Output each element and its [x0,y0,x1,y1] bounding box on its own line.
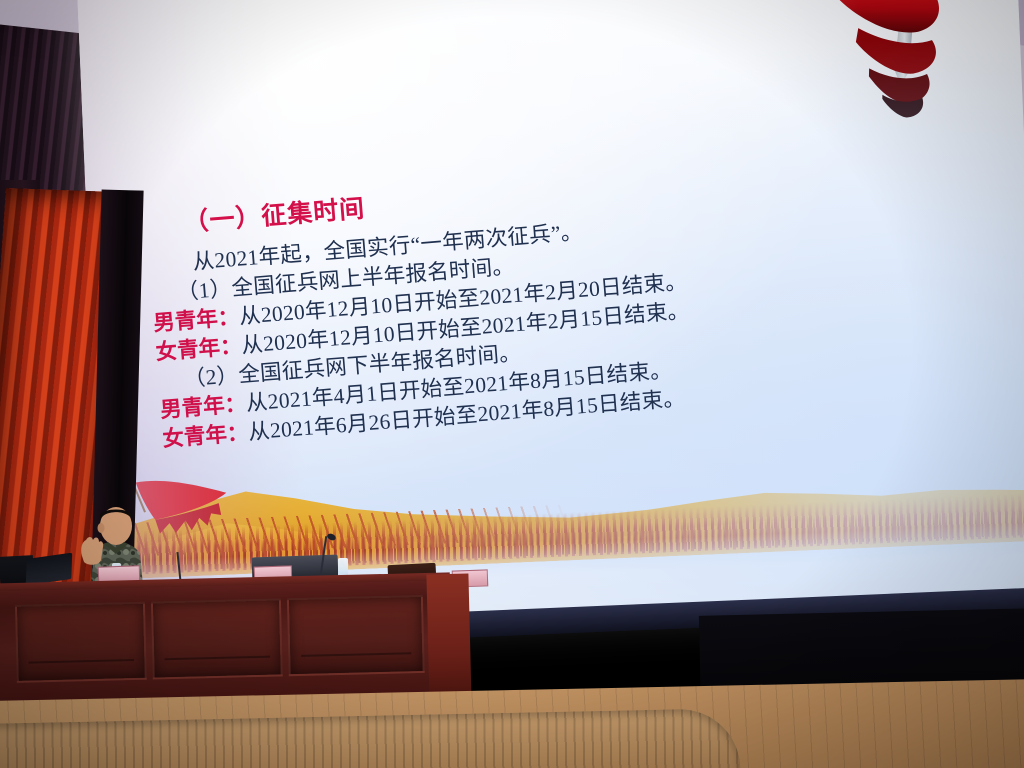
slide-line-label: 男青年： [159,392,247,423]
head-table-side [426,574,471,705]
head-table [0,580,443,709]
slide-line-label: 男青年： [153,305,241,336]
slide-line-label: 女青年： [162,421,250,452]
table-panel [151,598,283,679]
table-panel-ornament [28,623,135,664]
table-panel [287,595,425,676]
projection-screen: （一）征集时间 从2021年起，全国实行“一年两次征兵”。 （1）全国征兵网上半… [77,0,1024,632]
slide-line-label: 女青年： [155,334,243,365]
table-panel-ornament [164,620,271,661]
table-panel [15,602,147,683]
table-panel-ornament [300,616,412,657]
red-flag-banner-icon [795,0,1024,139]
auditorium-photo: （一）征集时间 从2021年起，全国实行“一年两次征兵”。 （1）全国征兵网上半… [0,0,1024,768]
